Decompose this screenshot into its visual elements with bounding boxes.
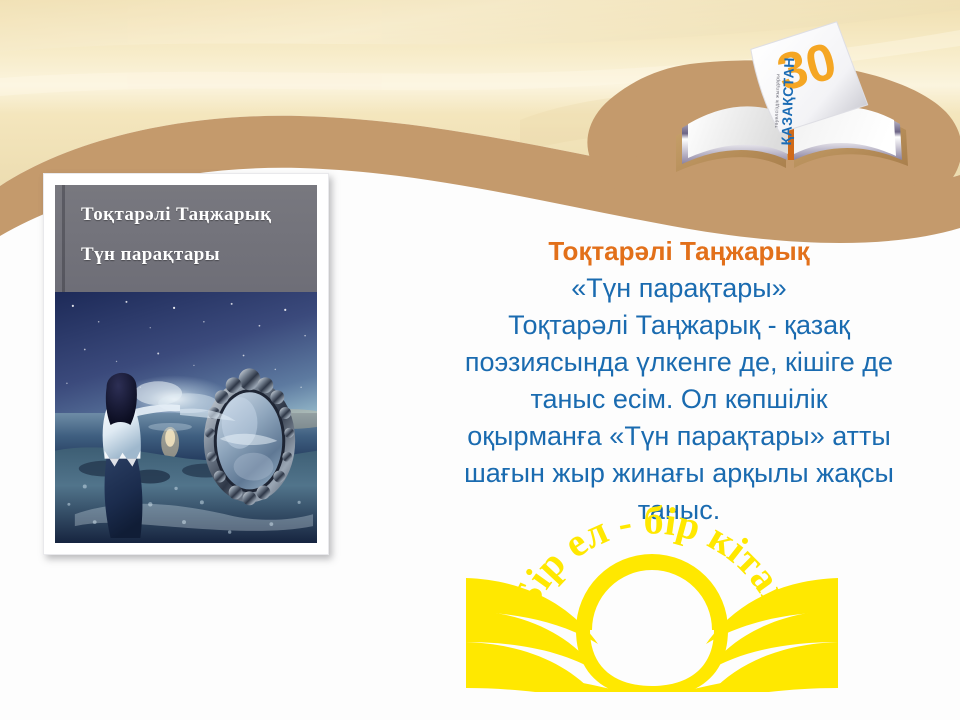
- description-line-5: оқырманға «Түн парақтары» атты: [398, 418, 960, 455]
- 30-kazakhstan-open-book-logo: 30 ҚАЗАҚСТАН тәуелсіздік жылдары: [660, 18, 942, 180]
- book-cover-title-band: Тоқтарәлі Таңжарық Түн парақтары: [55, 185, 317, 292]
- slide: 30 ҚАЗАҚСТАН тәуелсіздік жылдары Тоқтарә…: [0, 0, 960, 720]
- book-cover-artwork: [55, 292, 317, 543]
- bir-el-bir-kitap-logo: Бір ел - бір кітап: [452, 492, 852, 692]
- description-line-6: шағын жыр жинағы арқылы жақсы: [398, 455, 960, 492]
- work-author-heading: Тоқтарәлі Таңжарық: [398, 233, 960, 270]
- book-cover-title: Түн парақтары: [81, 245, 317, 264]
- description-line-4: таныс есім. Ол көпшілік: [398, 381, 960, 418]
- open-book-graphic: 30 ҚАЗАҚСТАН тәуелсіздік жылдары: [676, 19, 908, 172]
- logo-country-text: ҚАЗАҚСТАН: [778, 57, 797, 146]
- description-text-block: Тоқтарәлі Таңжарық «Түн парақтары» Тоқта…: [398, 233, 960, 529]
- book-cover-image: Тоқтарәлі Таңжарық Түн парақтары: [43, 173, 329, 555]
- description-line-1: «Түн парақтары»: [398, 270, 960, 307]
- description-line-2: Тоқтарәлі Таңжарық - қазақ: [398, 307, 960, 344]
- book-cover-inner: Тоқтарәлі Таңжарық Түн парақтары: [55, 185, 317, 543]
- description-line-3: поэзиясында үлкенге де, кішіге де: [398, 344, 960, 381]
- book-cover-author: Тоқтарәлі Таңжарық: [81, 205, 317, 224]
